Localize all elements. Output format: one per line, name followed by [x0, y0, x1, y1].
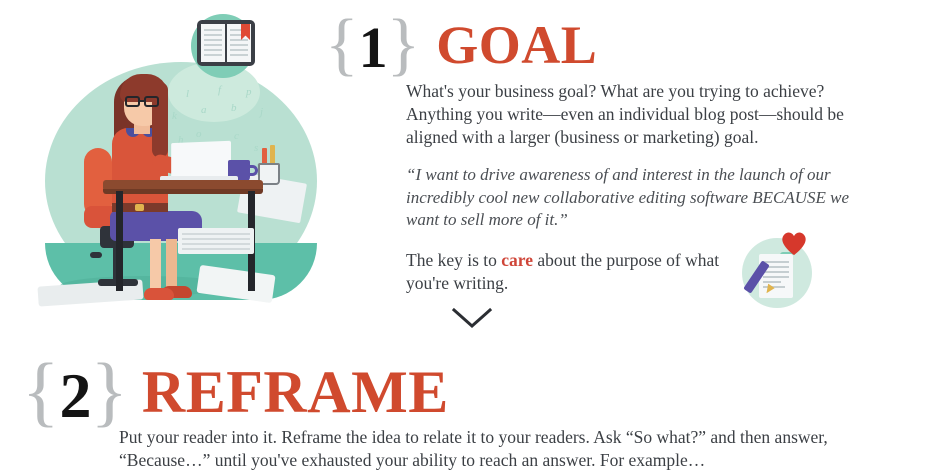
brace-open: { [325, 10, 359, 80]
section-1-key-line: The key is to care about the purpose of … [406, 249, 736, 295]
document-icon [759, 254, 793, 298]
section-title-goal: GOAL [436, 18, 597, 72]
illustration-writer-at-desk: k l a f b p j h o b c s e t i r n d [0, 0, 340, 330]
section-number-badge: { 1 } [325, 10, 420, 80]
belt-buckle [135, 204, 144, 211]
section-goal: { 1 } GOAL What's your business goal? Wh… [325, 10, 925, 295]
brace-close: } [90, 352, 127, 430]
hair-side [152, 82, 168, 158]
desk-leg [116, 191, 123, 291]
section-number-badge: { 2 } [22, 352, 128, 430]
section-title-reframe: REFRAME [142, 362, 449, 422]
pencil [270, 145, 275, 165]
open-book-icon [197, 20, 255, 66]
heart-icon [780, 230, 808, 256]
key-highlight-care: care [501, 250, 533, 270]
paper-stack [178, 228, 254, 254]
section-number: 2 [59, 364, 90, 428]
leg [150, 239, 161, 294]
infographic-page: k l a f b p j h o b c s e t i r n d [0, 0, 943, 472]
clipboard-heart-badge [742, 230, 820, 308]
chair-foot [90, 252, 102, 258]
section-reframe: { 2 } REFRAME Put your reader into it. R… [22, 352, 922, 472]
key-prefix: The key is to [406, 250, 501, 270]
section-2-header: { 2 } REFRAME [22, 352, 922, 430]
chevron-down-icon [450, 306, 494, 330]
book-page-left [201, 24, 225, 62]
section-1-header: { 1 } GOAL [325, 10, 925, 80]
section-2-body: Put your reader into it. Reframe the ide… [119, 426, 879, 472]
shoe [144, 288, 174, 300]
glasses-icon [124, 96, 164, 107]
section-1-body: What's your business goal? What are you … [406, 80, 861, 148]
brace-close: } [387, 10, 421, 80]
brace-open: { [22, 352, 59, 430]
desk-edge [103, 189, 263, 194]
section-number: 1 [359, 19, 387, 77]
section-1-quote: “I want to drive awareness of and intere… [406, 164, 858, 232]
